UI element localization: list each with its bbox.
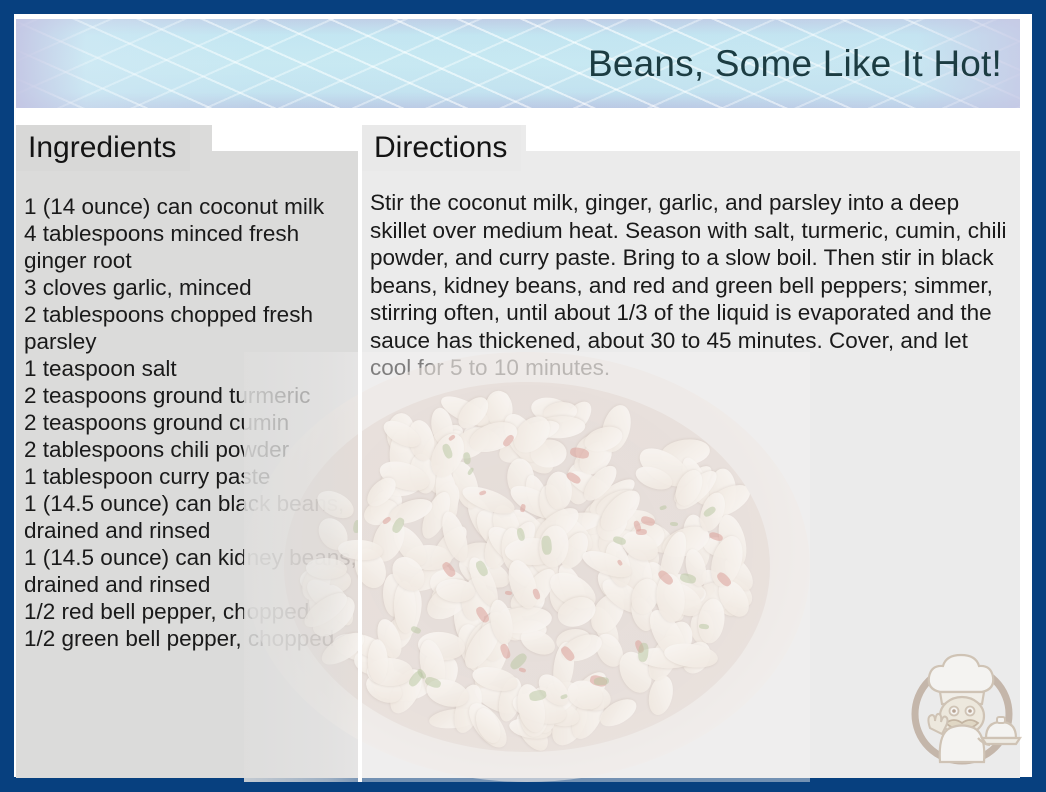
ingredient-item: 1 (14 ounce) can coconut milk: [24, 193, 360, 220]
directions-heading-notch: [526, 125, 1020, 151]
cloche-knob: [997, 717, 1005, 723]
frame-border-top: [0, 0, 1046, 14]
frame-border-right: [1032, 0, 1046, 792]
ingredient-item: 2 tablespoons chopped fresh parsley: [24, 301, 360, 355]
ingredient-item: 3 cloves garlic, minced: [24, 274, 360, 301]
recipe-slide: Beans, Some Like It Hot! Ingredients 1 (…: [0, 0, 1046, 792]
ingredient-item: 1 teaspoon salt: [24, 355, 360, 382]
ingredients-panel: Ingredients 1 (14 ounce) can coconut mil…: [16, 125, 358, 778]
page-title: Beans, Some Like It Hot!: [588, 43, 1002, 85]
chef-logo: [900, 646, 1024, 770]
directions-text: Stir the coconut milk, ginger, garlic, a…: [370, 189, 1010, 382]
ingredient-item: 4 tablespoons minced fresh ginger root: [24, 220, 360, 274]
ingredient-item: 1 tablespoon curry paste: [24, 463, 360, 490]
ingredients-heading: Ingredients: [16, 125, 190, 171]
ingredient-item: 1 (14.5 ounce) can kidney beans, drained…: [24, 544, 360, 598]
frame-border-bottom: [0, 777, 1046, 792]
chef-pupil-right: [968, 709, 972, 713]
ingredient-item: 2 teaspoons ground cumin: [24, 409, 360, 436]
ingredient-item: 1 (14.5 ounce) can black beans, drained …: [24, 490, 360, 544]
directions-heading: Directions: [362, 125, 521, 171]
chef-hat-icon: [929, 655, 994, 692]
header-banner: Beans, Some Like It Hot!: [16, 19, 1020, 108]
frame-border-left: [0, 0, 14, 792]
ingredient-item: 2 teaspoons ground turmeric: [24, 382, 360, 409]
ingredient-item: 2 tablespoons chili powder: [24, 436, 360, 463]
cloche-tray: [982, 738, 1020, 744]
chef-pupil-left: [952, 709, 956, 713]
ingredients-heading-notch: [212, 125, 358, 151]
chef-body: [940, 726, 985, 763]
ingredient-item: 1/2 green bell pepper, chopped: [24, 625, 360, 652]
ingredient-item: 1/2 red bell pepper, chopped: [24, 598, 360, 625]
ingredients-list: 1 (14 ounce) can coconut milk4 tablespoo…: [24, 193, 360, 652]
cloche-dome-icon: [986, 722, 1016, 738]
